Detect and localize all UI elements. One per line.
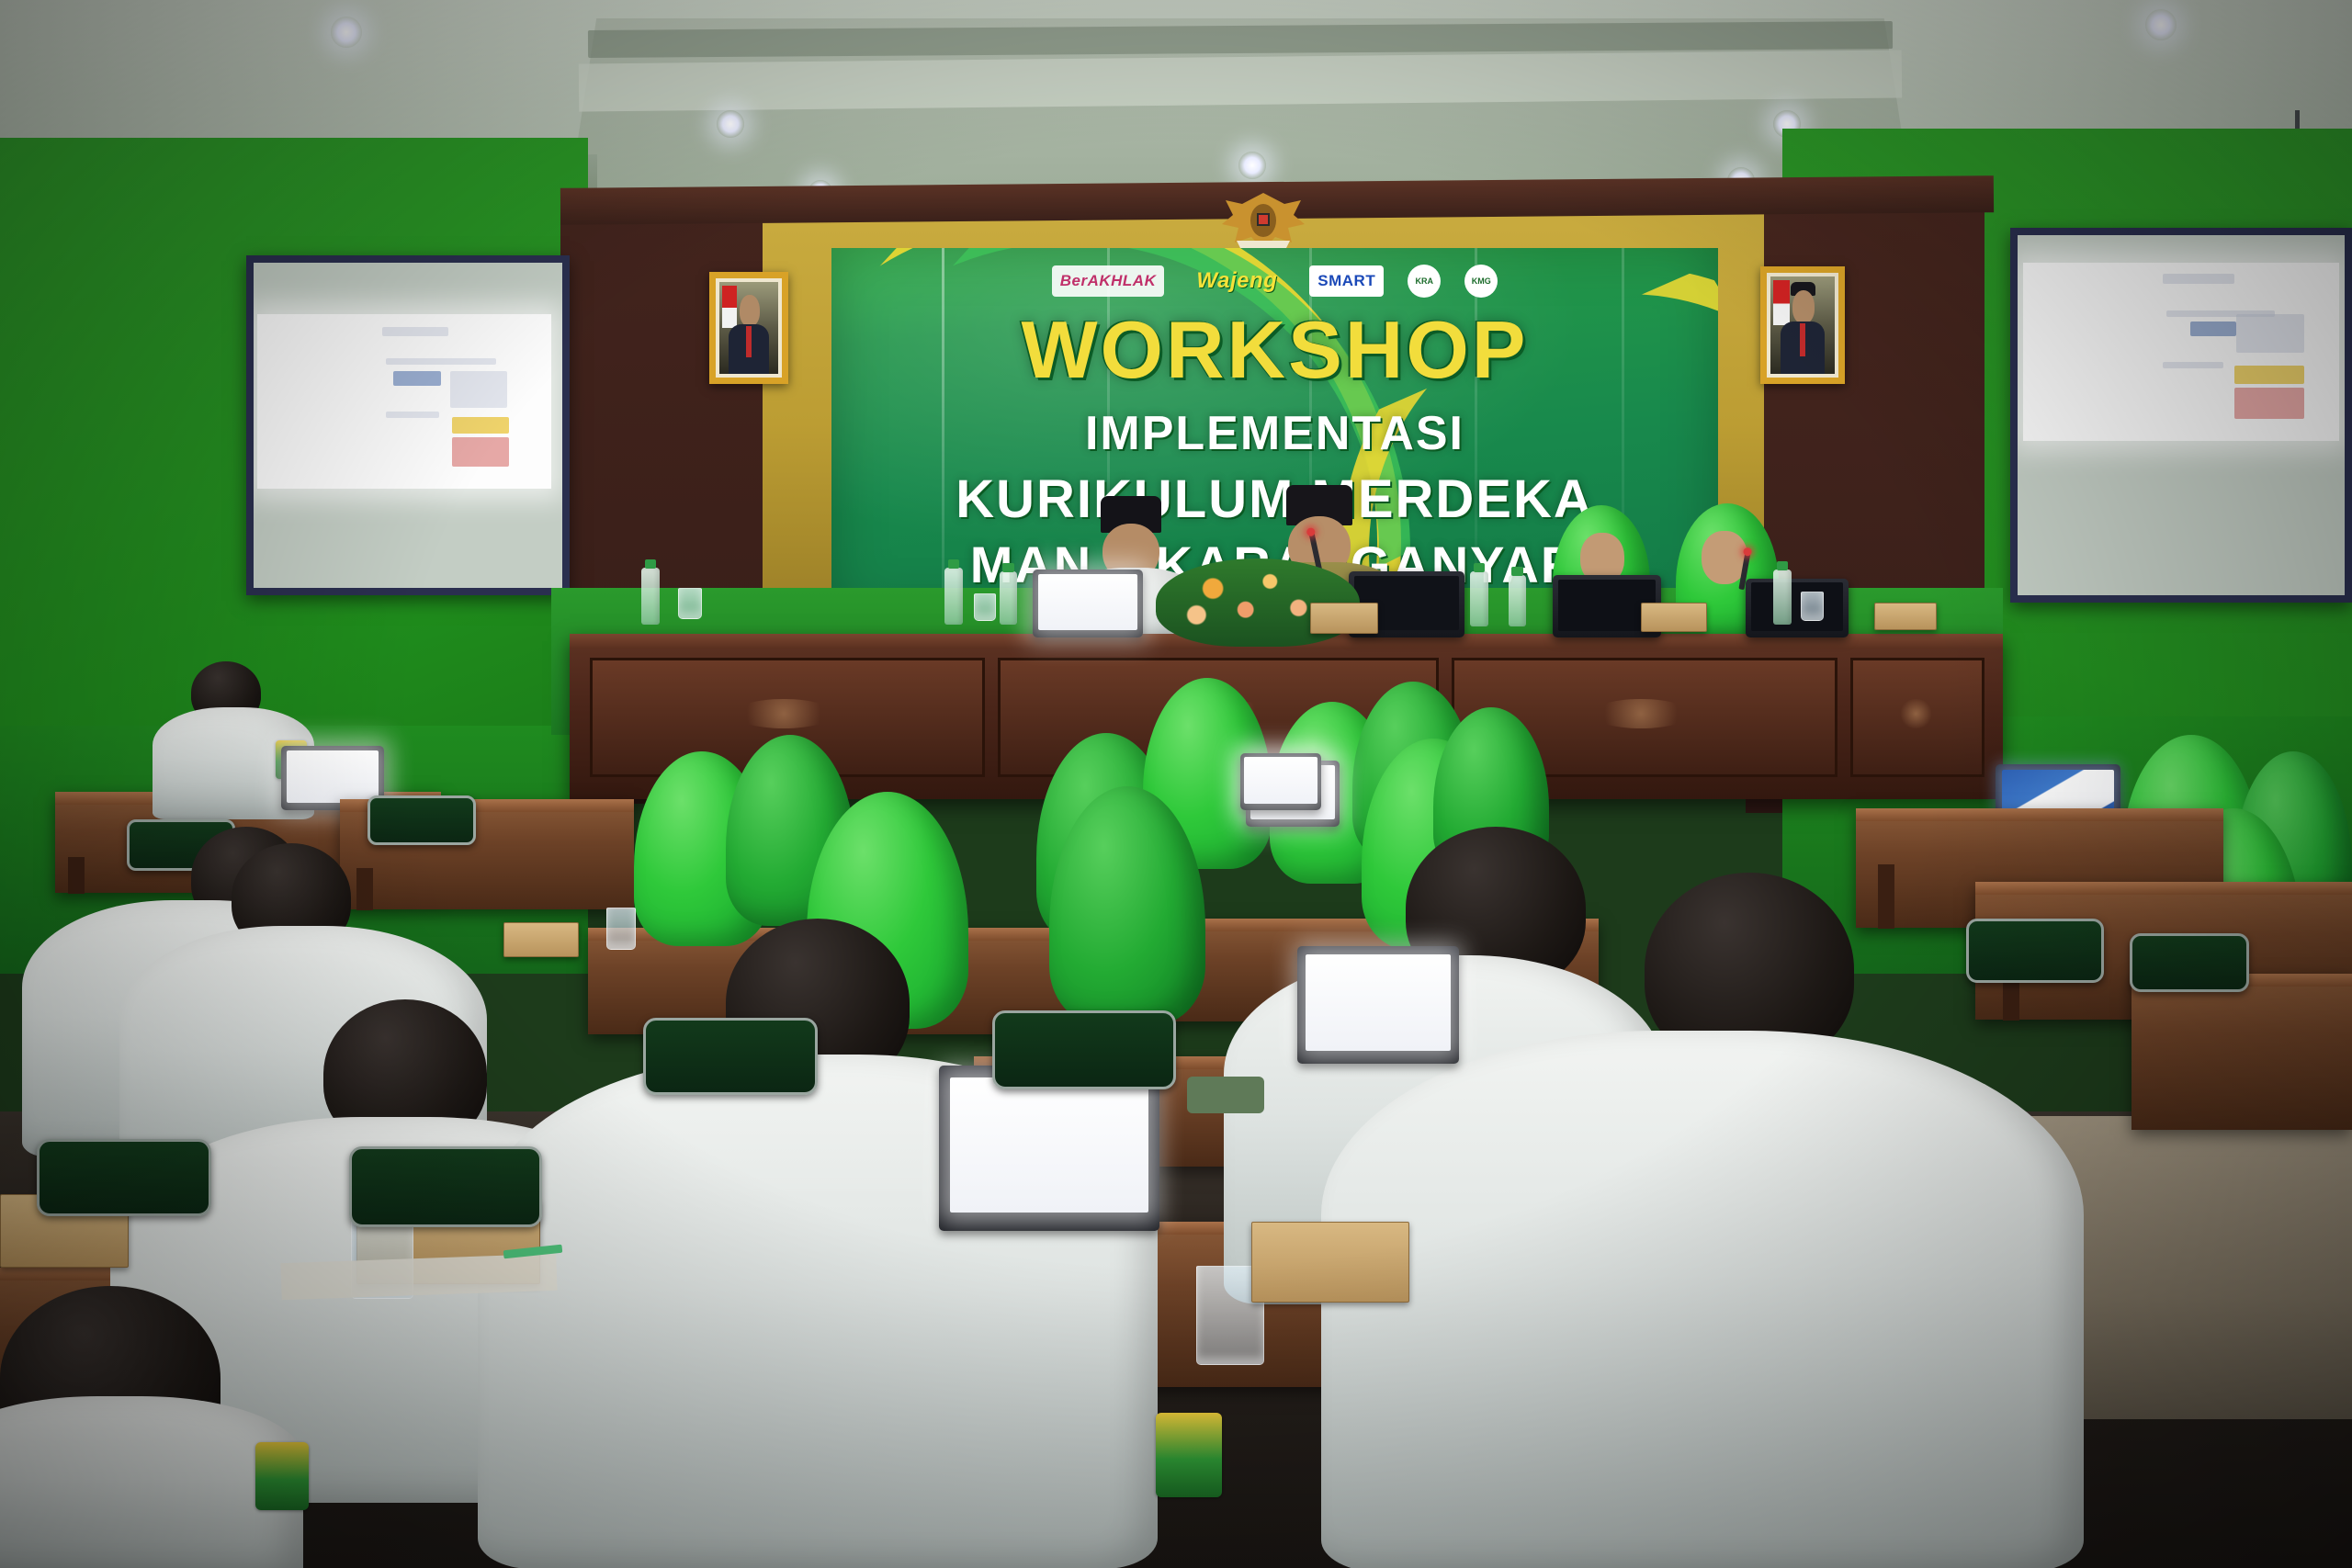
downlight-icon [1238, 152, 1266, 179]
projection-screen-left [246, 255, 570, 595]
projection-screen-right [2010, 228, 2352, 603]
participant-uniform [1321, 1031, 2084, 1568]
drinking-glass [974, 593, 996, 621]
chair-back [367, 795, 476, 845]
snack-box [1251, 1222, 1409, 1303]
chair-back [37, 1139, 211, 1216]
kmg-label: KMG [1472, 276, 1491, 286]
participant-laptop[interactable] [1297, 946, 1459, 1064]
kra-label: KRA [1415, 276, 1433, 286]
kemenag-logo: KMG [1464, 265, 1498, 298]
water-bottle [1470, 571, 1488, 626]
wajeng-logo: Wajeng [1188, 265, 1285, 297]
water-bottle [1000, 571, 1017, 625]
water-bottle [641, 568, 660, 625]
downlight-icon [717, 110, 744, 138]
snack-box [1874, 603, 1937, 630]
chair-back [349, 1146, 542, 1227]
kabupaten-karanganyar-logo: KRA [1408, 265, 1441, 298]
water-bottle [944, 568, 963, 625]
chair-back [1966, 919, 2104, 983]
drinking-glass [678, 588, 702, 619]
snack-box [503, 922, 579, 957]
snack-box [1641, 603, 1707, 632]
downlight-icon [331, 17, 362, 48]
participant-desk [2131, 974, 2352, 1130]
chair-back [2130, 933, 2249, 992]
banner-line-1: IMPLEMENTASI [831, 406, 1718, 461]
drinking-glass [606, 908, 636, 950]
water-bottle [1509, 575, 1526, 626]
banner-title: WORKSHOP [831, 303, 1718, 397]
water-bottle [1773, 570, 1792, 625]
downlight-icon [2145, 9, 2177, 40]
garuda-pancasila-icon [1213, 184, 1314, 257]
participant-laptop[interactable] [939, 1066, 1159, 1231]
president-portrait [709, 272, 788, 384]
chair-back [992, 1010, 1176, 1089]
banner-logo-strip: BerAKHLAK Wajeng SMART KRA KMG [831, 255, 1718, 307]
uniform-shoulder-patch [255, 1442, 309, 1510]
uniform-shoulder-patch [1156, 1413, 1222, 1497]
auditorium-photo: BerAKHLAK Wajeng SMART KRA KMG WORKSHOP … [0, 0, 2352, 1568]
smart-logo: SMART [1309, 265, 1384, 297]
berakhlak-logo: BerAKHLAK [1052, 265, 1165, 297]
panelist-laptop[interactable] [1033, 570, 1143, 637]
vice-president-portrait [1760, 266, 1845, 384]
participant-laptop[interactable] [1240, 753, 1321, 810]
drinking-glass [1801, 592, 1824, 621]
head-table-panel [1850, 658, 1984, 777]
phone-icon[interactable] [1187, 1077, 1264, 1113]
snack-box [1310, 603, 1378, 634]
chair-back [643, 1018, 818, 1095]
panelist-laptop[interactable] [1746, 579, 1849, 637]
